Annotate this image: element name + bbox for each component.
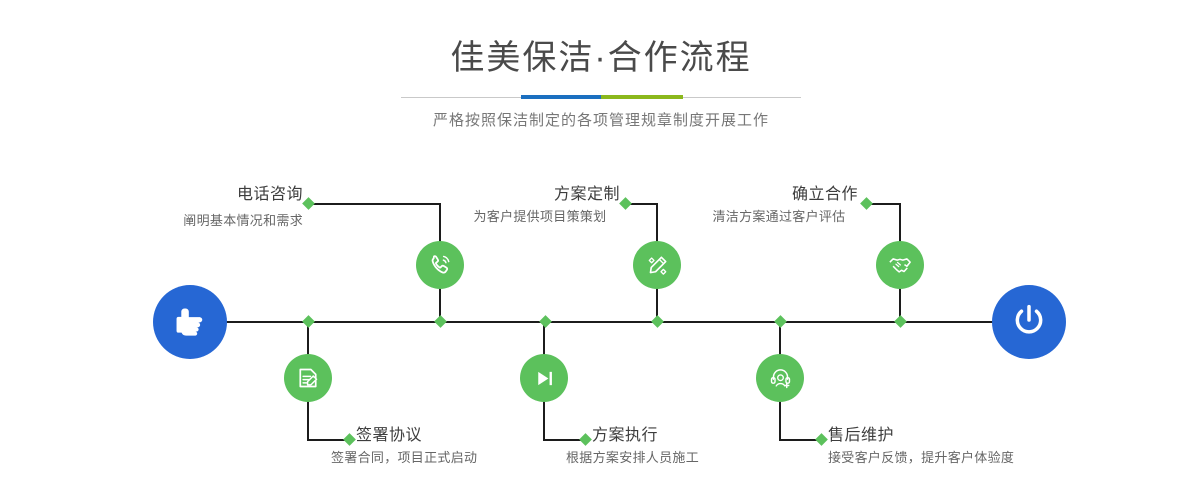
phone-call-icon (427, 252, 453, 278)
pencil-ruler-icon (645, 253, 670, 278)
step-title-6: 售后维护 (828, 426, 1014, 446)
pointing-hand-icon (171, 301, 209, 344)
step-node-6[interactable] (756, 354, 804, 402)
step-label-2: 签署协议 签署合同，项目正式启动 (356, 426, 477, 468)
step-node-1[interactable] (416, 241, 464, 289)
connector-horizontal-1 (308, 203, 440, 205)
step-label-5: 确立合作 清洁方案通过客户评估 (700, 185, 858, 227)
step-label-3: 方案定制 为客户提供项目策策划 (460, 185, 620, 227)
play-forward-icon (532, 366, 557, 391)
step-title-3: 方案定制 (460, 185, 620, 205)
step-label-4: 方案执行 根据方案安排人员施工 (592, 426, 699, 468)
step-desc-3: 为客户提供项目策策划 (460, 207, 620, 227)
timeline-start-node[interactable] (153, 285, 227, 359)
timeline-marker-6 (894, 315, 907, 328)
step-title-2: 签署协议 (356, 426, 477, 446)
step-desc-1: 阐明基本情况和需求 (183, 211, 303, 231)
step-title-1: 电话咨询 (193, 185, 303, 205)
step-desc-6: 接受客户反馈，提升客户体验度 (828, 448, 1014, 468)
step-desc-2: 签署合同，项目正式启动 (331, 448, 477, 468)
step-dot-2 (343, 433, 356, 446)
step-dot-6 (815, 433, 828, 446)
step-label-6: 售后维护 接受客户反馈，提升客户体验度 (828, 426, 1014, 468)
handshake-icon (887, 252, 913, 278)
step-title-5: 确立合作 (700, 185, 858, 205)
power-icon (1009, 300, 1049, 345)
step-desc-5: 清洁方案通过客户评估 (700, 207, 858, 227)
step-dot-5 (860, 197, 873, 210)
step-dot-3 (619, 197, 632, 210)
step-title-4: 方案执行 (592, 426, 699, 446)
step-node-5[interactable] (876, 241, 924, 289)
timeline-marker-3 (539, 315, 552, 328)
step-desc-4: 根据方案安排人员施工 (566, 448, 699, 468)
step-dot-4 (579, 433, 592, 446)
step-label-1: 电话咨询 阐明基本情况和需求 (193, 185, 303, 205)
step-node-2[interactable] (284, 354, 332, 402)
customer-support-icon (768, 366, 793, 391)
timeline-marker-2 (434, 315, 447, 328)
timeline-marker-5 (774, 315, 787, 328)
timeline-end-node[interactable] (992, 285, 1066, 359)
timeline-marker-1 (302, 315, 315, 328)
process-timeline: 电话咨询 阐明基本情况和需求 签署协议 签署合同，项目正式启动 (0, 0, 1202, 502)
timeline-marker-4 (651, 315, 664, 328)
step-node-4[interactable] (520, 354, 568, 402)
document-edit-icon (295, 365, 321, 391)
step-node-3[interactable] (633, 241, 681, 289)
step-dot-1 (302, 197, 315, 210)
